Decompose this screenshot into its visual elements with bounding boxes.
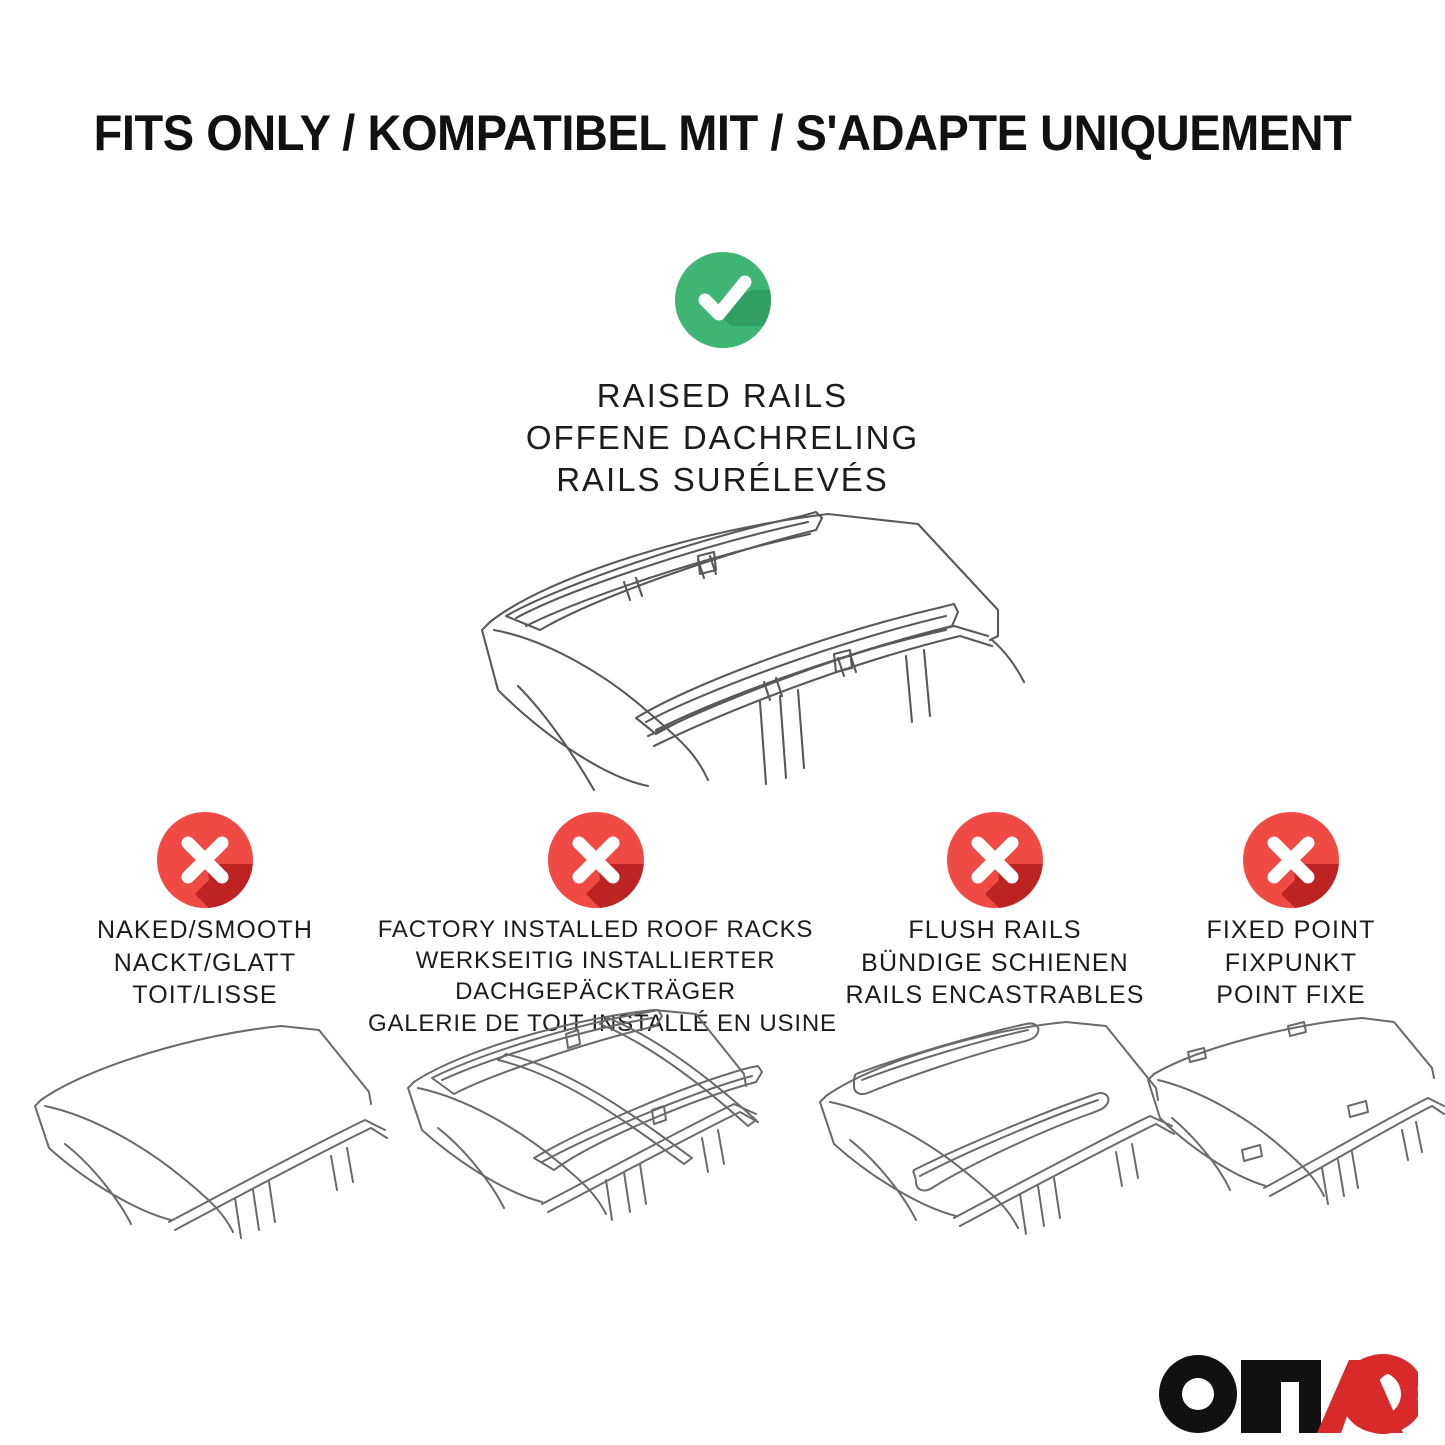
compatible-label-de: OFFENE DACHRELING [0,417,1445,459]
green-check-circle-icon [675,252,771,348]
incompatible-labels: FLUSH RAILS BÜNDIGE SCHIENEN RAILS ENCAS… [830,914,1160,1012]
incompatible-item-naked-smooth: NAKED/SMOOTH NACKT/GLATT TOIT/LISSE [30,812,380,1012]
incompatible-labels: FIXED POINT FIXPUNKT POINT FIXE [1160,914,1422,1012]
x-long-shadow [548,812,644,908]
x-long-shadow [157,812,253,908]
omac-logo [1157,1352,1415,1436]
incompatible-item-factory-rack: FACTORY INSTALLED ROOF RACKS WERKSEITIG … [368,812,823,1039]
label-de: BÜNDIGE SCHIENEN [830,947,1160,980]
label-de: NACKT/GLATT [30,947,380,980]
red-x-circle-icon [947,812,1043,908]
page-title: FITS ONLY / KOMPATIBEL MIT / S'ADAPTE UN… [43,104,1401,162]
label-de: FIXPUNKT [1160,947,1422,980]
badge-wrap [368,812,823,914]
badge-wrap [1160,812,1422,914]
incompatible-labels: NAKED/SMOOTH NACKT/GLATT TOIT/LISSE [30,914,380,1012]
car-roof-raised-rails-drawing [398,490,1058,790]
x-long-shadow [1243,812,1339,908]
label-en: NAKED/SMOOTH [30,914,380,947]
logo-letter-m [1241,1360,1321,1433]
incompatible-item-fixed-point: FIXED POINT FIXPUNKT POINT FIXE [1160,812,1422,1012]
check-long-shadow [675,252,771,348]
car-roof-factory-rack-drawing [396,998,796,1243]
car-roof-naked-smooth-drawing [19,1008,391,1243]
badge-wrap [830,812,1160,914]
incompatible-section: NAKED/SMOOTH NACKT/GLATT TOIT/LISSE [0,812,1445,1262]
label-fr: TOIT/LISSE [30,979,380,1012]
label-de-1: WERKSEITIG INSTALLIERTER [368,945,823,976]
x-long-shadow [947,812,1043,908]
red-x-circle-icon [1243,812,1339,908]
red-x-circle-icon [157,812,253,908]
label-en: FIXED POINT [1160,914,1422,947]
car-roof-flush-rails-drawing [804,1008,1186,1243]
red-x-circle-icon [548,812,644,908]
badge-wrap [30,812,380,914]
compatible-label-en: RAISED RAILS [0,375,1445,417]
label-fr: RAILS ENCASTRABLES [830,979,1160,1012]
infographic-page: FITS ONLY / KOMPATIBEL MIT / S'ADAPTE UN… [0,0,1445,1445]
label-en: FACTORY INSTALLED ROOF RACKS [368,914,823,945]
compatible-section: RAISED RAILS OFFENE DACHRELING RAILS SUR… [0,252,1445,502]
label-fr: POINT FIXE [1160,979,1422,1012]
car-roof-fixed-point-drawing [1136,1008,1445,1243]
incompatible-item-flush-rails: FLUSH RAILS BÜNDIGE SCHIENEN RAILS ENCAS… [830,812,1160,1012]
label-en: FLUSH RAILS [830,914,1160,947]
compatible-labels: RAISED RAILS OFFENE DACHRELING RAILS SUR… [0,375,1445,502]
